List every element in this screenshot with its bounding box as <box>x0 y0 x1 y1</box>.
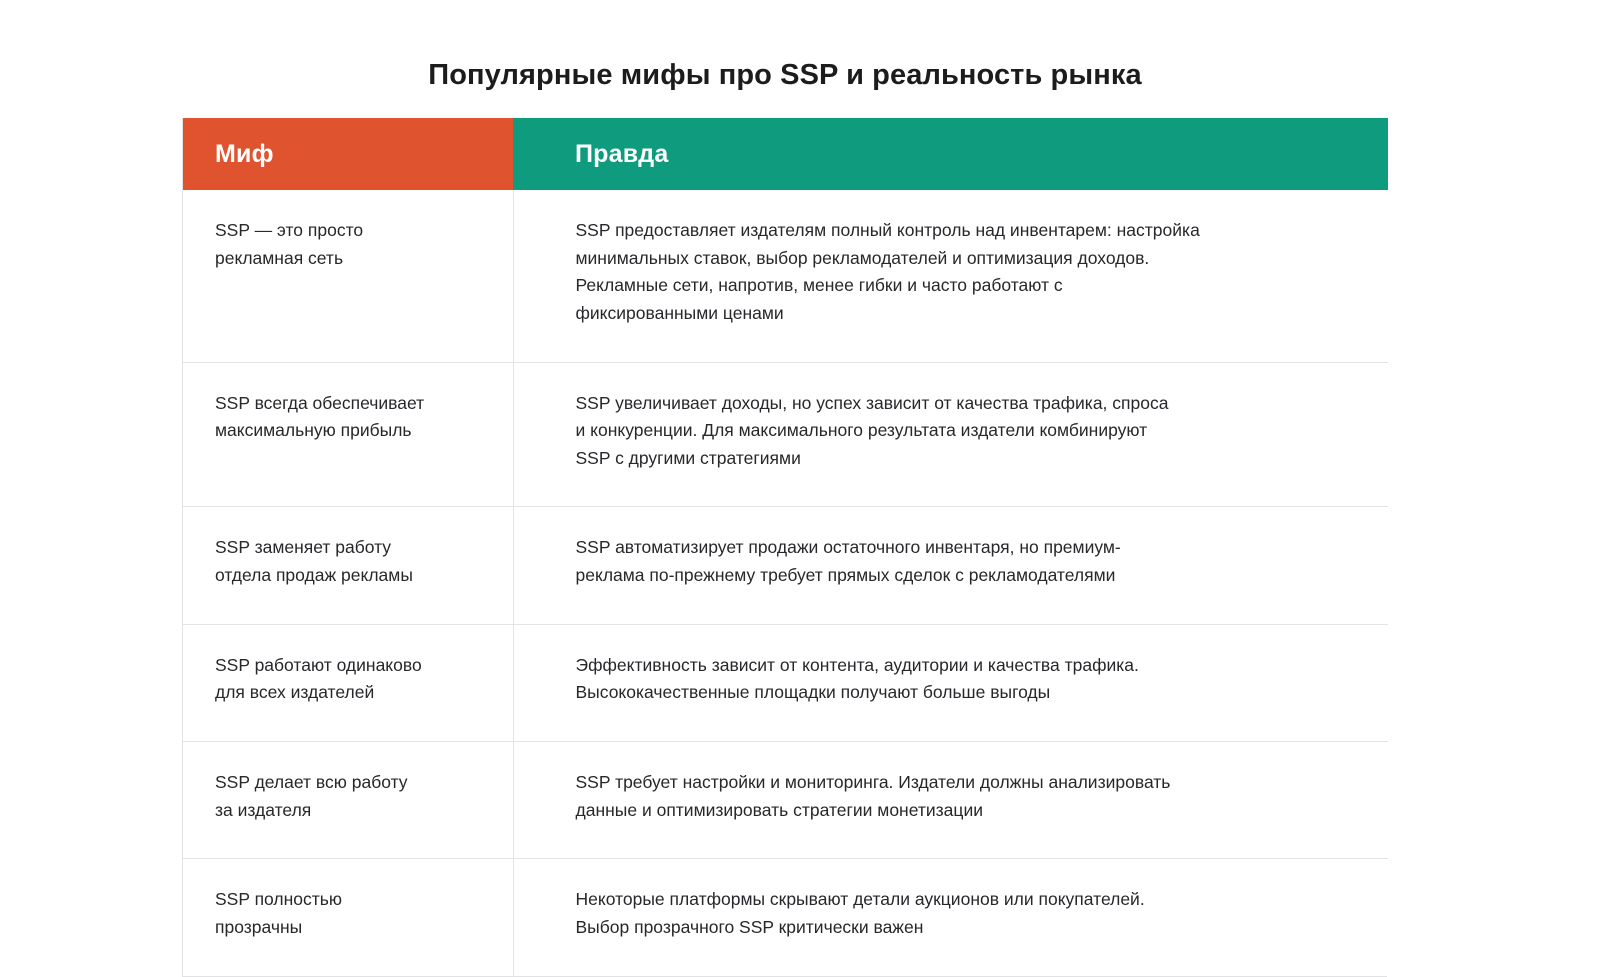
truth-text-line: Эффективность зависит от контента, аудит… <box>576 652 1359 680</box>
page-title: Популярные мифы про SSP и реальность рын… <box>0 58 1570 93</box>
cell-myth: SSP полностьюпрозрачны <box>183 859 513 976</box>
myth-text-line: отдела продаж рекламы <box>215 562 487 590</box>
cell-truth: Эффективность зависит от контента, аудит… <box>513 624 1388 741</box>
table-header-row: Миф Правда <box>183 118 1388 190</box>
table-row: SSP полностьюпрозрачныНекоторые платформ… <box>183 859 1388 976</box>
myth-text-line: за издателя <box>215 797 487 825</box>
cell-myth: SSP всегда обеспечиваетмаксимальную приб… <box>183 362 513 507</box>
truth-text-line: Выбор прозрачного SSP критически важен <box>576 914 1359 942</box>
truth-text-line: реклама по-прежнему требует прямых сдело… <box>576 562 1359 590</box>
myth-text-line: SSP делает всю работу <box>215 769 487 797</box>
table-body: SSP — это просторекламная сетьSSP предос… <box>183 190 1388 976</box>
myths-table-container: Миф Правда SSP — это просторекламная сет… <box>182 118 1387 977</box>
truth-text-line: минимальных ставок, выбор рекламодателей… <box>576 245 1359 273</box>
cell-myth: SSP работают одинаководля всех издателей <box>183 624 513 741</box>
truth-text-line: Рекламные сети, напротив, менее гибки и … <box>576 272 1359 300</box>
truth-text-line: и конкуренции. Для максимального результ… <box>576 417 1359 445</box>
cell-myth: SSP — это просторекламная сеть <box>183 190 513 362</box>
myth-text-line: максимальную прибыль <box>215 417 487 445</box>
myth-text-line: рекламная сеть <box>215 245 487 273</box>
cell-truth: SSP увеличивает доходы, но успех зависит… <box>513 362 1388 507</box>
truth-text-line: SSP с другими стратегиями <box>576 445 1359 473</box>
truth-text-line: Некоторые платформы скрывают детали аукц… <box>576 886 1359 914</box>
myth-text-line: SSP заменяет работу <box>215 534 487 562</box>
truth-text-line: Высококачественные площадки получают бол… <box>576 679 1359 707</box>
table-row: SSP делает всю работуза издателяSSP треб… <box>183 742 1388 859</box>
column-header-truth: Правда <box>513 118 1388 190</box>
page-root: Популярные мифы про SSP и реальность рын… <box>0 0 1600 901</box>
truth-text-line: SSP требует настройки и мониторинга. Изд… <box>576 769 1359 797</box>
cell-truth: SSP автоматизирует продажи остаточного и… <box>513 507 1388 624</box>
myth-text-line: прозрачны <box>215 914 487 942</box>
table-row: SSP работают одинаководля всех издателей… <box>183 624 1388 741</box>
table-header: Миф Правда <box>183 118 1388 190</box>
truth-text-line: SSP предоставляет издателям полный контр… <box>576 217 1359 245</box>
cell-truth: Некоторые платформы скрывают детали аукц… <box>513 859 1388 976</box>
myth-text-line: SSP работают одинаково <box>215 652 487 680</box>
cell-truth: SSP требует настройки и мониторинга. Изд… <box>513 742 1388 859</box>
myth-text-line: SSP всегда обеспечивает <box>215 390 487 418</box>
myth-text-line: SSP — это просто <box>215 217 487 245</box>
myths-vs-truth-table: Миф Правда SSP — это просторекламная сет… <box>183 118 1388 976</box>
truth-text-line: фиксированными ценами <box>576 300 1359 328</box>
column-header-myth: Миф <box>183 118 513 190</box>
cell-myth: SSP делает всю работуза издателя <box>183 742 513 859</box>
table-row: SSP всегда обеспечиваетмаксимальную приб… <box>183 362 1388 507</box>
myth-text-line: для всех издателей <box>215 679 487 707</box>
truth-text-line: SSP автоматизирует продажи остаточного и… <box>576 534 1359 562</box>
truth-text-line: SSP увеличивает доходы, но успех зависит… <box>576 390 1359 418</box>
table-row: SSP заменяет работуотдела продаж рекламы… <box>183 507 1388 624</box>
cell-truth: SSP предоставляет издателям полный контр… <box>513 190 1388 362</box>
truth-text-line: данные и оптимизировать стратегии монети… <box>576 797 1359 825</box>
myth-text-line: SSP полностью <box>215 886 487 914</box>
cell-myth: SSP заменяет работуотдела продаж рекламы <box>183 507 513 624</box>
table-row: SSP — это просторекламная сетьSSP предос… <box>183 190 1388 362</box>
